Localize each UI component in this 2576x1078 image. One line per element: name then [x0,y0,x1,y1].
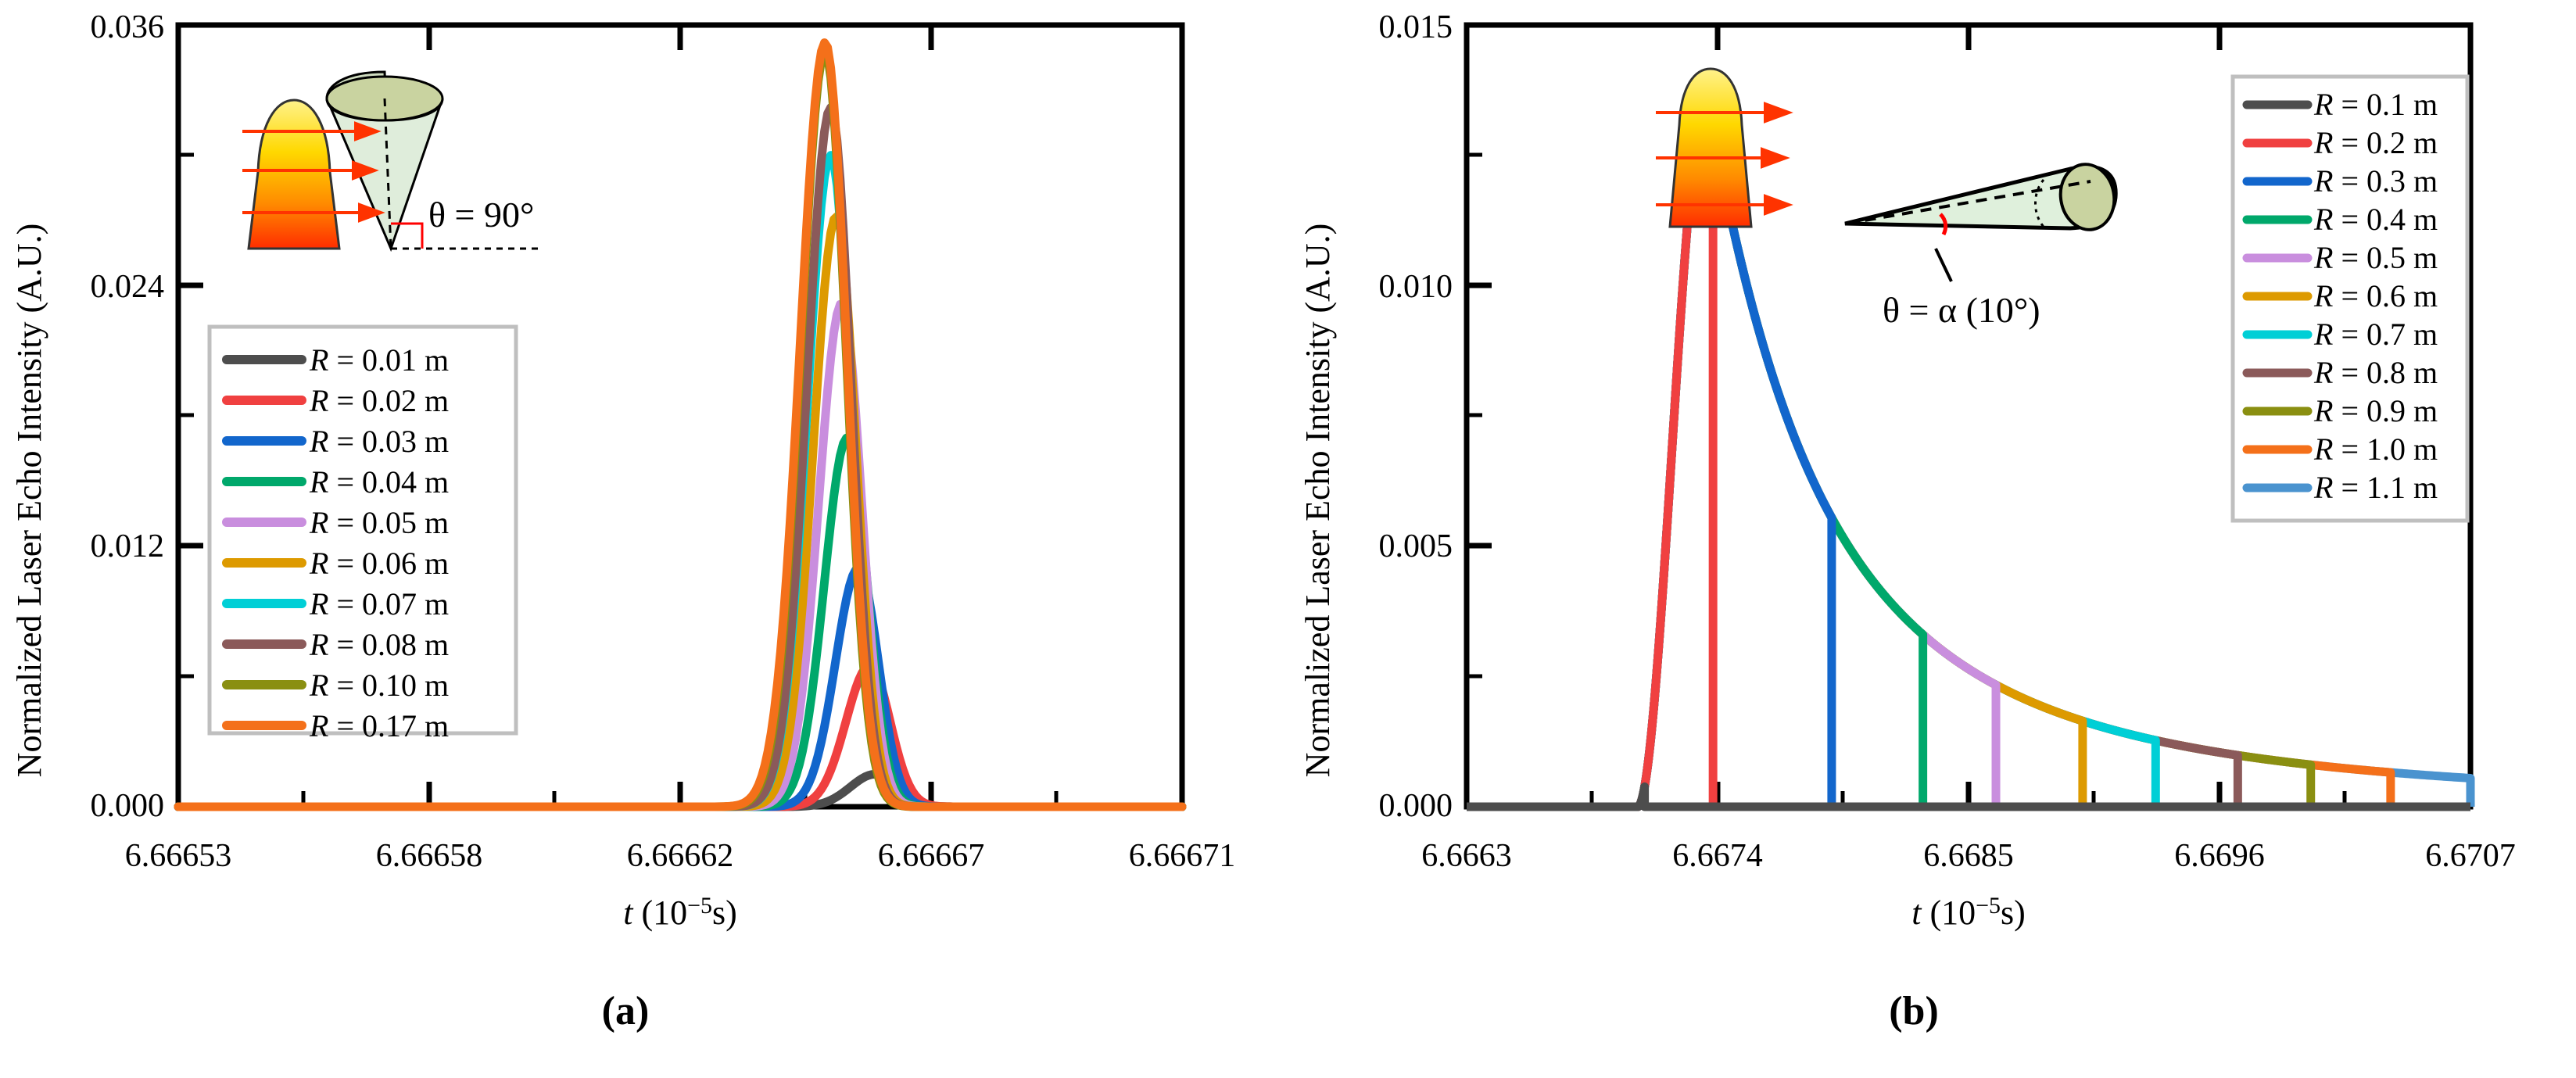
figure-root: Normalized Laser Echo Intensity (A.U.) 0… [0,0,2576,1078]
panel-a-legend-label-0: R = 0.01 m [309,342,449,378]
panel-b-theta-annotation: θ = α (10°) [1883,290,2040,330]
panel-a-xtick-2: 6.66662 [627,838,734,874]
panel-b-ylabel: Normalized Laser Echo Intensity (A.U.) [1299,224,1337,778]
panel-b-legend-label-9: R = 1.0 m [2313,432,2438,467]
panel-b-legend-label-2: R = 0.3 m [2313,163,2438,199]
panel-a-xlabel: t (10−5s) [623,893,737,932]
panel-a-ytick-3: 0.036 [91,9,165,45]
panel-a-xtick-3: 6.66667 [878,838,985,874]
panel-a-xtick-1: 6.66658 [376,838,483,874]
panel-a-legend-label-9: R = 0.17 m [309,708,449,743]
panel-b-legend-label-0: R = 0.1 m [2313,87,2438,122]
panel-b-xtick-3: 6.6696 [2174,838,2265,874]
panel-b-ytick-1: 0.005 [1379,528,1453,564]
panel-a-legend: R = 0.01 mR = 0.02 mR = 0.03 mR = 0.04 m… [210,327,516,743]
panel-a-legend-label-5: R = 0.06 m [309,546,449,581]
panel-a-xtick-4: 6.66671 [1129,838,1236,874]
panel-b-legend-label-5: R = 0.6 m [2313,278,2438,313]
panel-a-legend-label-1: R = 0.02 m [309,383,449,418]
panel-a-legend-label-7: R = 0.08 m [309,627,449,662]
panel-a-legend-label-3: R = 0.04 m [309,464,449,500]
panel-b-legend-label-4: R = 0.5 m [2313,240,2438,275]
panel-b-ytick-2: 0.010 [1379,269,1453,305]
panel-a-ytick-0: 0.000 [91,788,165,824]
panel-a-legend-label-6: R = 0.07 m [309,586,449,621]
panel-b-caption: (b) [1889,989,1939,1033]
panel-a-legend-label-8: R = 0.10 m [309,668,449,703]
panel-b-legend-label-10: R = 1.1 m [2313,470,2438,505]
panel-b-ytick-0: 0.000 [1379,788,1453,824]
panel-a-legend-label-4: R = 0.05 m [309,505,449,540]
panel-b-xtick-1: 6.6674 [1672,838,1763,874]
panel-b-xtick-0: 6.6663 [1421,838,1512,874]
panel-b-legend-label-8: R = 0.9 m [2313,393,2438,428]
panel-b-legend-label-1: R = 0.2 m [2313,125,2438,160]
panel-b-svg: Normalized Laser Echo Intensity (A.U.) 0… [1288,0,2576,1078]
panel-a-svg: Normalized Laser Echo Intensity (A.U.) 0… [0,0,1288,1078]
panel-b-xtick-4: 6.6707 [2425,838,2516,874]
panel-a: Normalized Laser Echo Intensity (A.U.) 0… [0,0,1288,1078]
panel-b-legend-label-6: R = 0.7 m [2313,317,2438,352]
panel-b-legend: R = 0.1 mR = 0.2 mR = 0.3 mR = 0.4 mR = … [2233,77,2467,521]
panel-a-ytick-1: 0.012 [91,528,165,564]
panel-b-xlabel: t (10−5s) [1911,893,2026,932]
panel-a-ytick-2: 0.024 [91,269,165,305]
panel-a-theta-annotation: θ = 90° [428,195,534,235]
panel-a-legend-label-2: R = 0.03 m [309,424,449,459]
panel-a-caption: (a) [602,989,650,1033]
panel-b-legend-label-3: R = 0.4 m [2313,202,2438,237]
panel-a-ylabel: Normalized Laser Echo Intensity (A.U.) [10,224,48,778]
panel-b: Normalized Laser Echo Intensity (A.U.) 0… [1288,0,2576,1078]
panel-b-legend-label-7: R = 0.8 m [2313,355,2438,390]
panel-b-ytick-3: 0.015 [1379,9,1453,45]
panel-b-xtick-2: 6.6685 [1923,838,2014,874]
panel-a-xtick-0: 6.66653 [125,838,232,874]
